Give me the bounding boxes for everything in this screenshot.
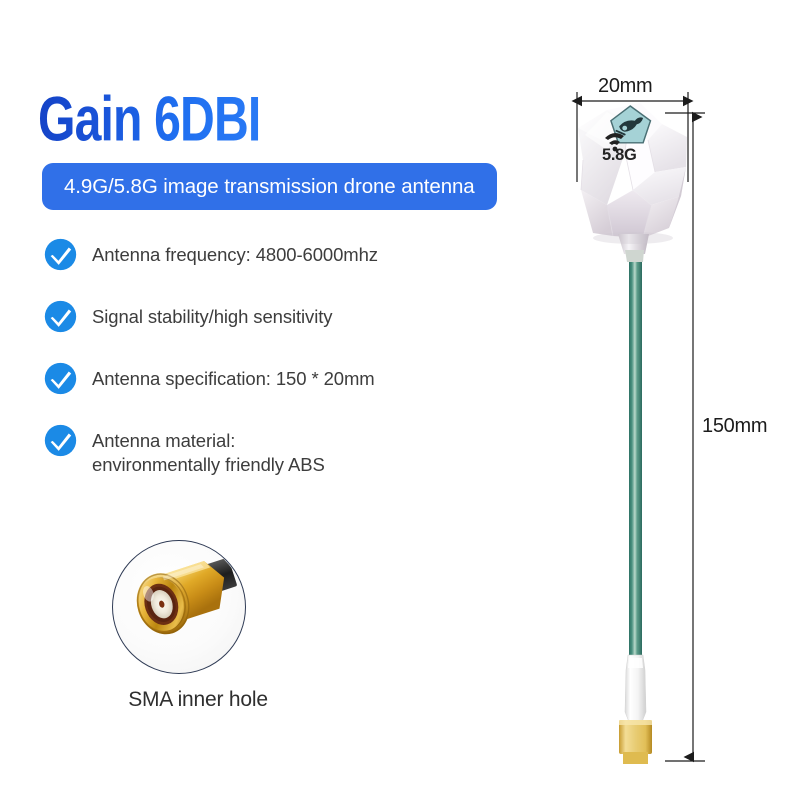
page-title: Gain 6DBI — [38, 88, 260, 151]
check-circle-icon — [44, 424, 77, 457]
check-circle-icon — [44, 300, 77, 333]
sma-detail-label: SMA inner hole — [112, 688, 284, 712]
feature-text: Antenna material: environmentally friend… — [92, 426, 325, 478]
list-item: Signal stability/high sensitivity — [44, 302, 514, 333]
feature-text: Signal stability/high sensitivity — [92, 302, 332, 329]
info-column: Gain 6DBI 4.9G/5.8G image transmission d… — [0, 0, 560, 800]
sma-detail-circle — [112, 540, 246, 674]
sma-detail-callout: SMA inner hole — [112, 540, 284, 712]
subtitle-badge: 4.9G/5.8G image transmission drone anten… — [42, 163, 497, 210]
check-circle-icon — [44, 362, 77, 395]
sma-connector-photo — [113, 541, 245, 673]
list-item: Antenna frequency: 4800-6000mhz — [44, 240, 514, 271]
feature-text: Antenna frequency: 4800-6000mhz — [92, 240, 378, 267]
antenna-band-label: 5.8G — [602, 146, 637, 165]
list-item: Antenna specification: 150 * 20mm — [44, 364, 514, 395]
antenna-product-image — [545, 0, 800, 800]
list-item: Antenna material: environmentally friend… — [44, 426, 514, 478]
check-circle-icon — [44, 238, 77, 271]
feature-list: Antenna frequency: 4800-6000mhz Signal s… — [44, 240, 514, 509]
subtitle-text: 4.9G/5.8G image transmission drone anten… — [64, 175, 475, 199]
feature-text: Antenna specification: 150 * 20mm — [92, 364, 375, 391]
